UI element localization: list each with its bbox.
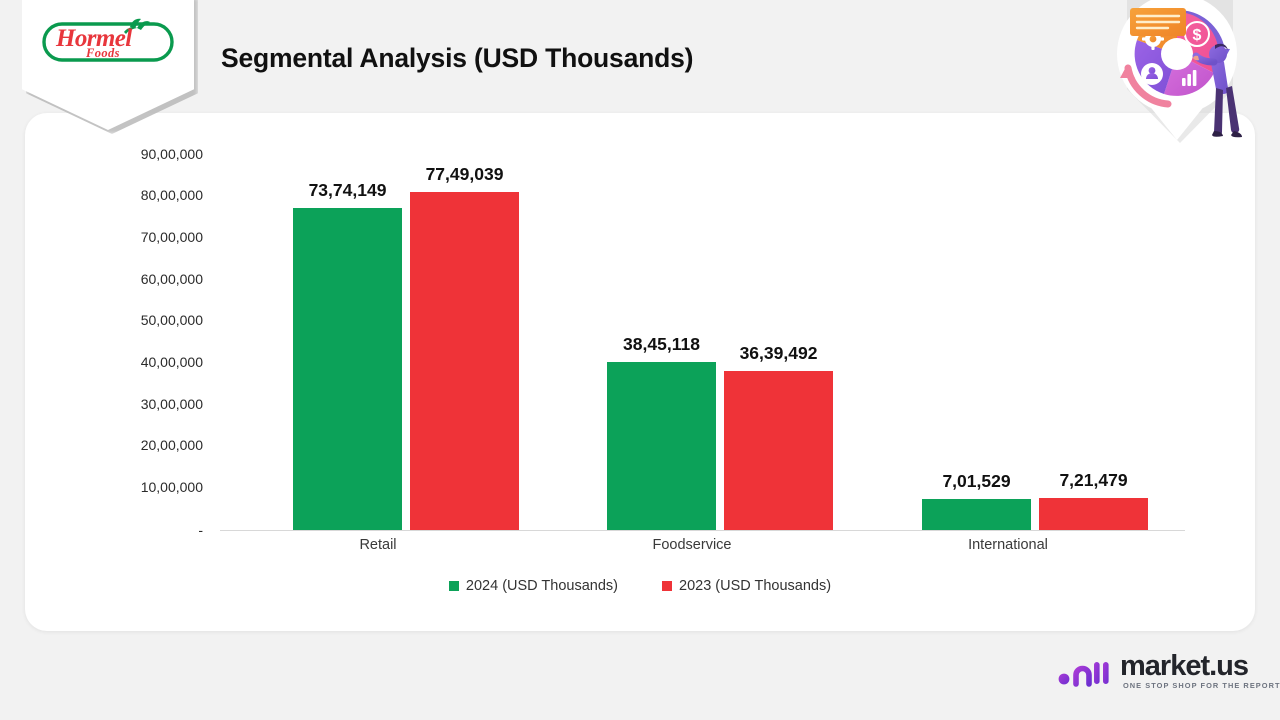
y-axis-tick-labels: 90,00,000 80,00,000 70,00,000 60,00,000 … xyxy=(103,113,203,631)
legend-label: 2024 (USD Thousands) xyxy=(466,578,618,594)
bar-value-label: 36,39,492 xyxy=(740,343,818,364)
bar-group-retail: 73,74,149 77,49,039 xyxy=(293,137,513,530)
legend-label: 2023 (USD Thousands) xyxy=(679,578,831,594)
bar-value-label: 73,74,149 xyxy=(309,180,387,201)
y-tick-label: 50,00,000 xyxy=(103,312,203,328)
footer-logo-tagline: ONE STOP SHOP FOR THE REPORTS xyxy=(1123,681,1280,690)
footer-logo: market.us ONE STOP SHOP FOR THE REPORTS xyxy=(1057,652,1257,696)
bar-value-label: 7,01,529 xyxy=(942,471,1010,492)
bar-group-international: 7,01,529 7,21,479 xyxy=(922,137,1142,530)
x-tick-label-foodservice: Foodservice xyxy=(653,537,732,553)
bar-2024-international[interactable]: 7,01,529 xyxy=(922,499,1031,530)
market-us-logo-icon xyxy=(1057,654,1115,694)
y-tick-label: 70,00,000 xyxy=(103,229,203,245)
svg-text:Foods: Foods xyxy=(85,46,120,60)
legend-swatch-icon xyxy=(449,581,459,591)
hormel-foods-logo-icon: Hormel Foods xyxy=(42,16,174,68)
decorative-infographic-illustration: $ xyxy=(1102,0,1252,144)
y-tick-label: 40,00,000 xyxy=(103,354,203,370)
bar-group-foodservice: 38,45,118 36,39,492 xyxy=(607,137,827,530)
y-tick-label: 60,00,000 xyxy=(103,271,203,287)
brand-logo-banner: Hormel Foods xyxy=(22,0,194,132)
chart-legend: 2024 (USD Thousands) 2023 (USD Thousands… xyxy=(25,578,1255,594)
y-tick-label: 80,00,000 xyxy=(103,187,203,203)
y-tick-label: 10,00,000 xyxy=(103,479,203,495)
plot-area: 73,74,149 77,49,039 38,45,118 36,39,492 … xyxy=(220,137,1185,530)
bar-value-label: 77,49,039 xyxy=(426,164,504,185)
y-tick-label: 30,00,000 xyxy=(103,396,203,412)
bar-value-label: 38,45,118 xyxy=(623,334,700,355)
y-tick-label: 20,00,000 xyxy=(103,437,203,453)
y-tick-label: 90,00,000 xyxy=(103,146,203,162)
bar-2023-international[interactable]: 7,21,479 xyxy=(1039,498,1148,530)
svg-text:$: $ xyxy=(1193,27,1202,44)
footer-logo-wordmark: market.us xyxy=(1120,650,1248,683)
bar-2024-foodservice[interactable]: 38,45,118 xyxy=(607,362,716,530)
bar-2023-retail[interactable]: 77,49,039 xyxy=(410,192,519,530)
y-tick-label: - xyxy=(103,522,203,538)
bar-chart: 90,00,000 80,00,000 70,00,000 60,00,000 … xyxy=(25,113,1255,631)
legend-swatch-icon xyxy=(662,581,672,591)
bar-value-label: 7,21,479 xyxy=(1059,470,1127,491)
legend-item-2024[interactable]: 2024 (USD Thousands) xyxy=(449,578,618,594)
bar-2023-foodservice[interactable]: 36,39,492 xyxy=(724,371,833,530)
page-title: Segmental Analysis (USD Thousands) xyxy=(221,43,693,74)
x-tick-label-retail: Retail xyxy=(359,537,396,553)
x-tick-label-international: International xyxy=(968,537,1048,553)
bar-2024-retail[interactable]: 73,74,149 xyxy=(293,208,402,530)
axis-baseline xyxy=(220,530,1185,531)
legend-item-2023[interactable]: 2023 (USD Thousands) xyxy=(662,578,831,594)
